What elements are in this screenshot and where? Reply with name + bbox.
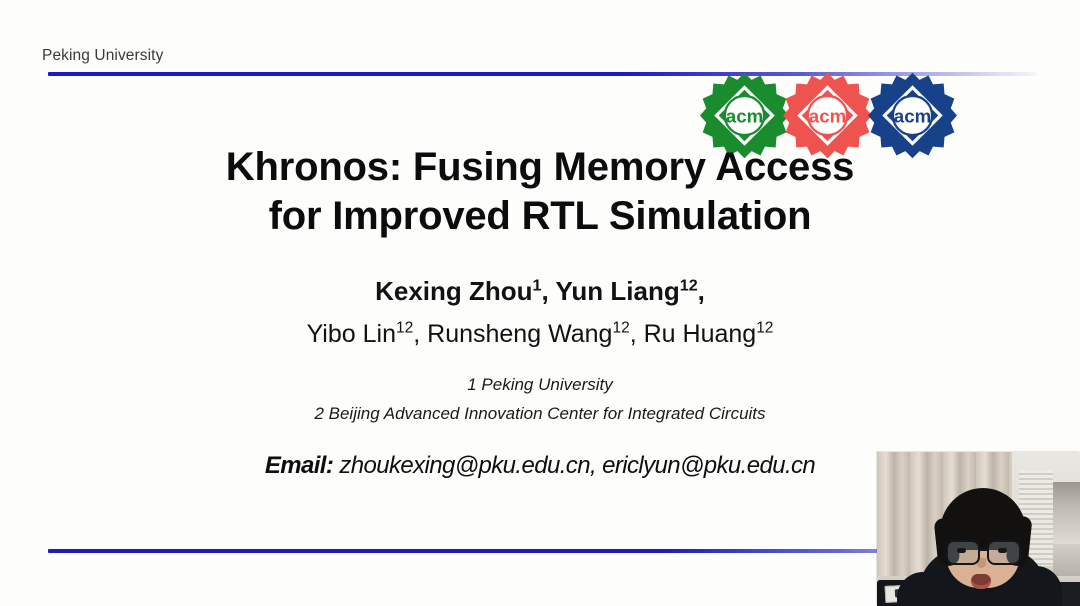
presenter-webcam-overlay[interactable] — [877, 452, 1080, 606]
affiliation-2: 2 Beijing Advanced Innovation Center for… — [0, 402, 1080, 426]
background-shelf-upper — [1053, 482, 1080, 542]
author-line-primary: Kexing Zhou1, Yun Liang12, — [0, 274, 1080, 308]
author-separator-3: , — [413, 320, 427, 348]
affiliation-1: 1 Peking University — [0, 373, 1080, 397]
author-yibo-lin-affiliation-mark: 12 — [396, 320, 413, 337]
author-separator-4: , — [630, 320, 644, 348]
webcam-scene — [877, 452, 1080, 606]
author-runsheng-wang: Runsheng Wang — [427, 320, 612, 348]
author-ru-huang-affiliation-mark: 12 — [756, 320, 773, 337]
email-label: Email: — [265, 452, 333, 479]
presenter-glasses — [943, 540, 1023, 562]
author-line-secondary: Yibo Lin12, Runsheng Wang12, Ru Huang12 — [0, 317, 1080, 351]
svg-text:acm: acm — [726, 106, 763, 127]
svg-text:acm: acm — [809, 106, 846, 127]
author-yibo-lin: Yibo Lin — [307, 320, 396, 348]
svg-text:acm: acm — [894, 106, 931, 127]
author-kexing-zhou-affiliation-mark: 1 — [533, 276, 542, 294]
email-addresses[interactable]: zhoukexing@pku.edu.cn, ericlyun@pku.edu.… — [339, 452, 815, 479]
presenter-eye-right — [998, 548, 1007, 553]
slide-header-label: Peking University — [42, 47, 163, 65]
presenter-mouth — [971, 574, 991, 589]
author-kexing-zhou: Kexing Zhou — [375, 276, 532, 306]
author-yun-liang-affiliation-mark: 12 — [680, 276, 698, 294]
presenter-eye-left — [957, 548, 966, 553]
slide-title: Khronos: Fusing Memory Access for Improv… — [0, 143, 1080, 241]
author-ru-huang: Ru Huang — [644, 320, 757, 348]
author-runsheng-wang-affiliation-mark: 12 — [612, 320, 629, 337]
author-separator-1: , — [542, 276, 556, 306]
slide-title-line-1: Khronos: Fusing Memory Access — [0, 143, 1080, 192]
author-separator-2: , — [698, 276, 705, 306]
presentation-slide: Peking University acm acm — [0, 0, 1080, 606]
author-yun-liang: Yun Liang — [556, 276, 680, 306]
slide-title-line-2: for Improved RTL Simulation — [0, 192, 1080, 241]
